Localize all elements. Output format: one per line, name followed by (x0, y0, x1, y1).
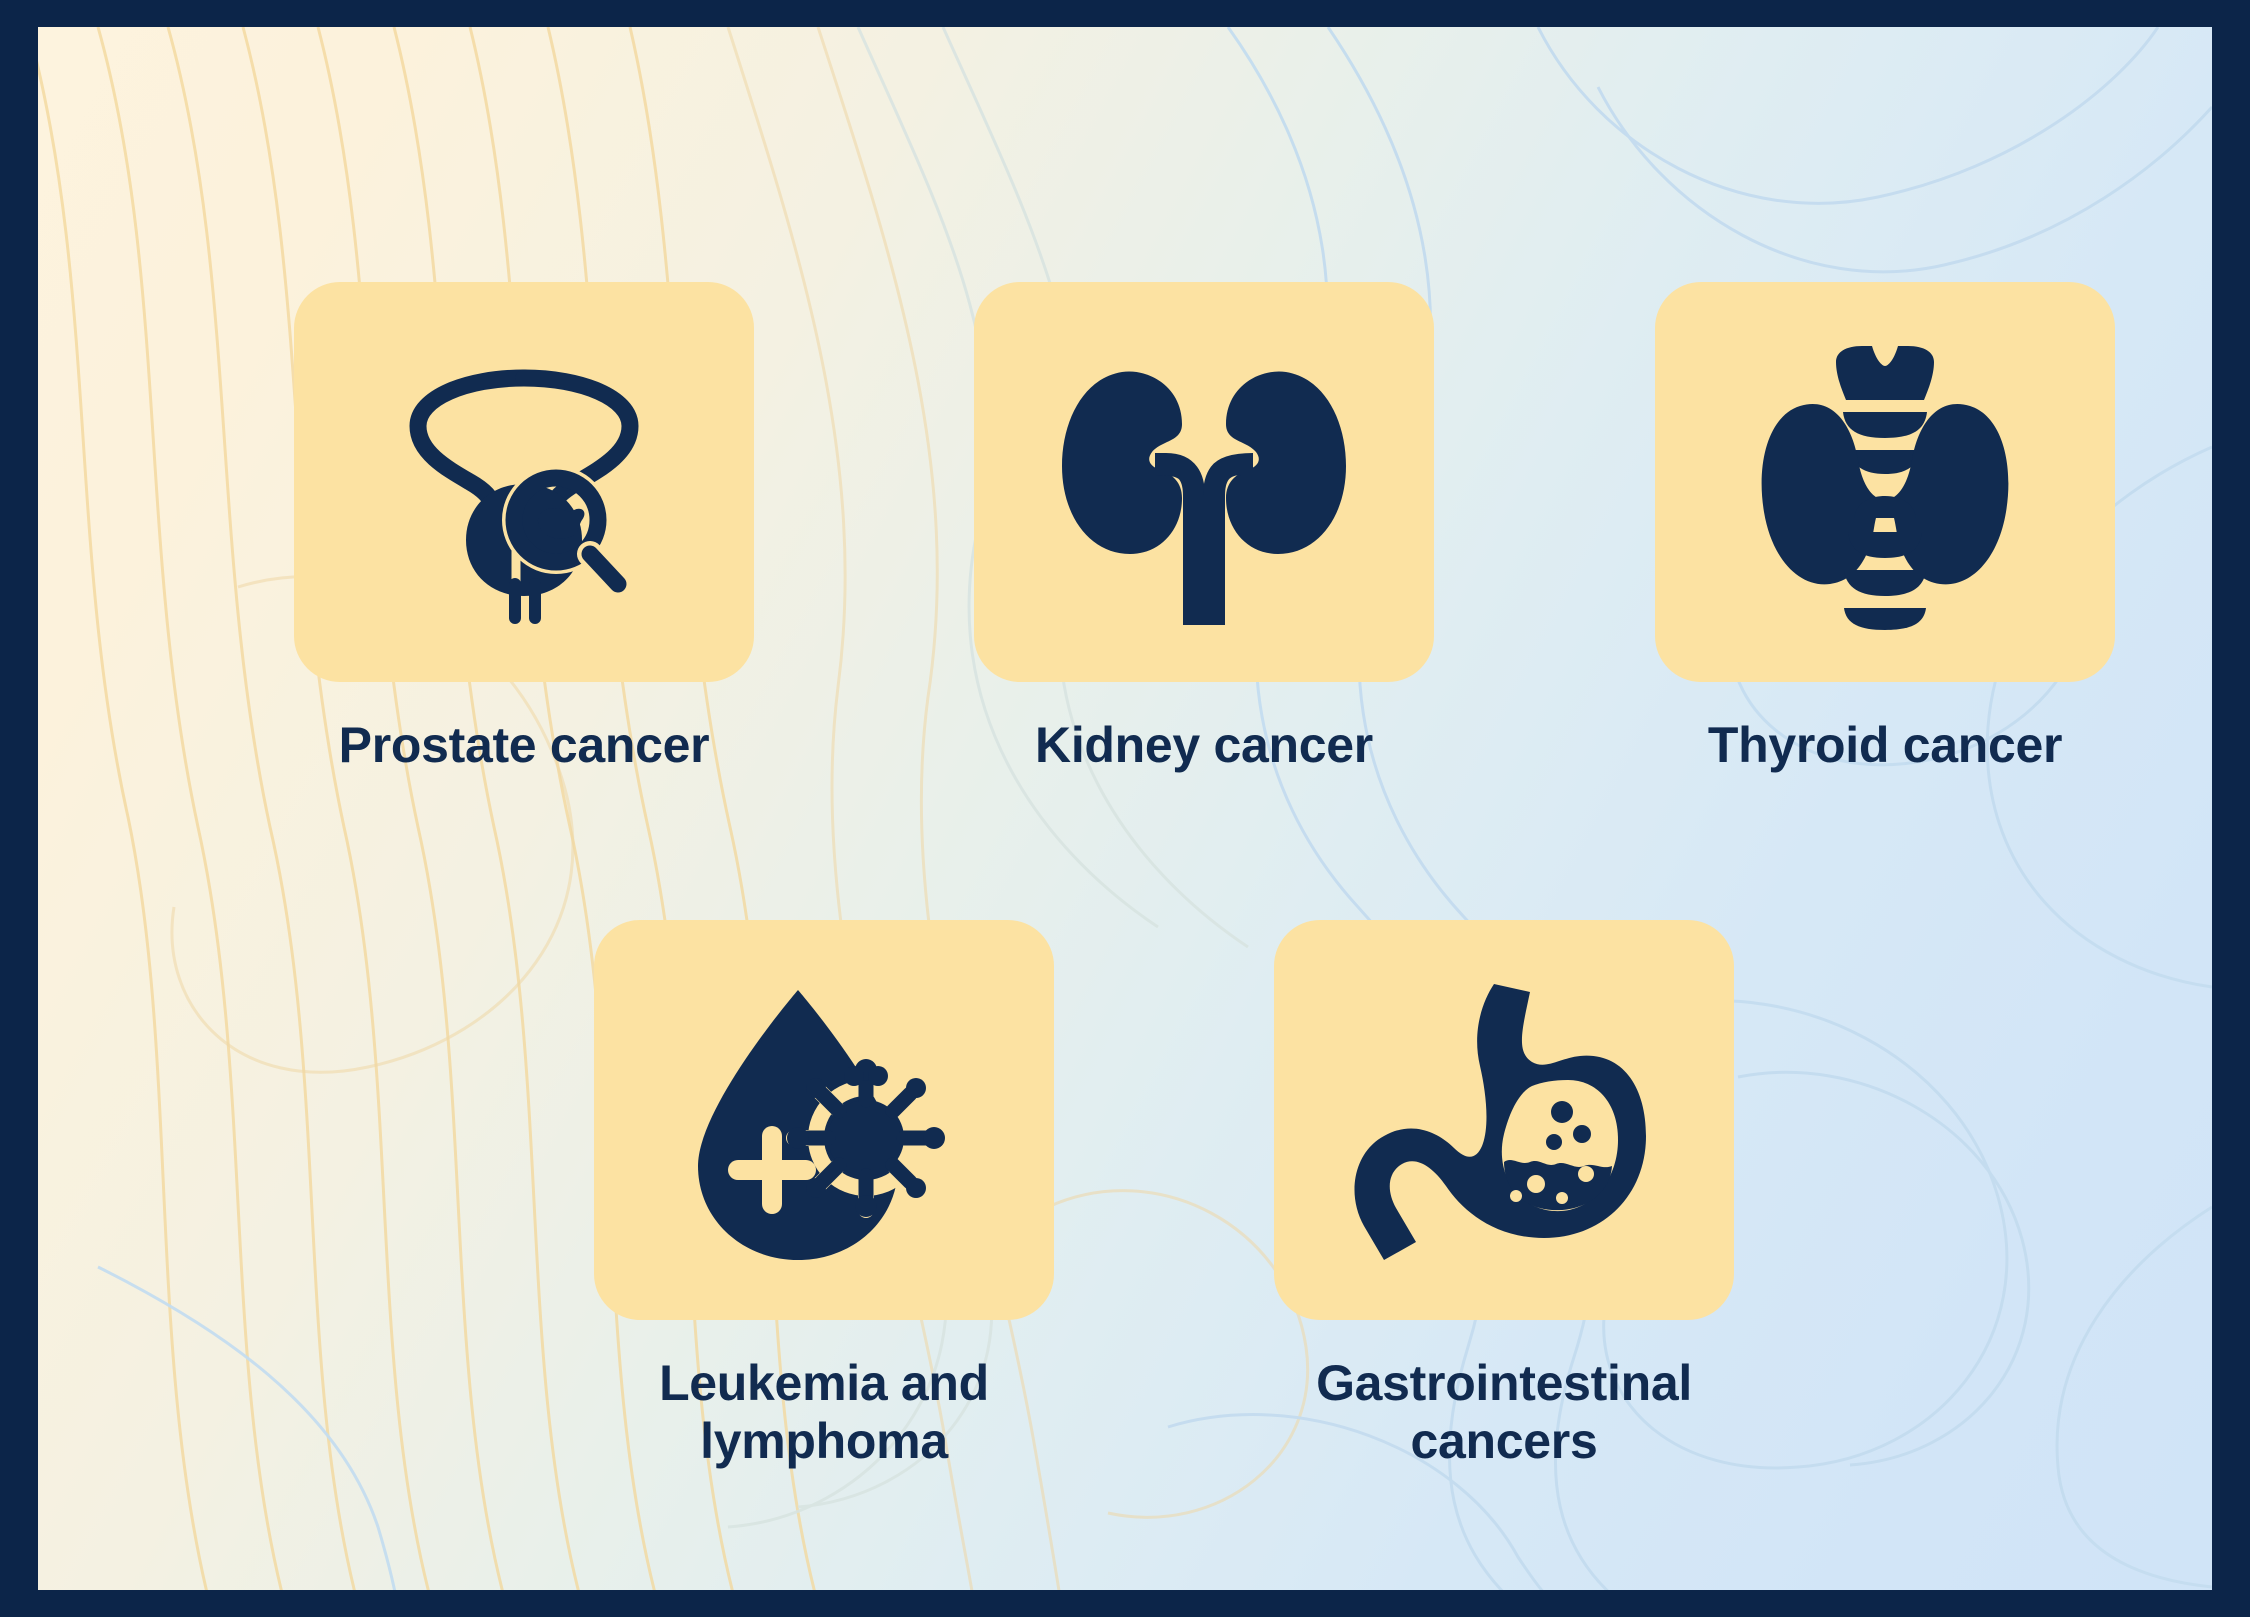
card-label-thyroid: Thyroid cancer (1585, 716, 2185, 774)
card-prostate-cancer[interactable]: Prostate cancer (224, 282, 824, 774)
cards-grid: Prostate cancer Kidney cancer (38, 27, 2212, 1590)
stomach-icon (1354, 970, 1654, 1270)
card-label-leukemia: Leukemia andlymphoma (564, 1354, 1084, 1470)
blood-drop-virus-icon (674, 970, 974, 1270)
prostate-magnifier-icon (374, 332, 674, 632)
label-line-2: lymphoma (700, 1413, 948, 1469)
icon-tile-leukemia (594, 920, 1054, 1320)
label-line-2: cancers (1411, 1413, 1598, 1469)
card-leukemia-lymphoma[interactable]: Leukemia andlymphoma (564, 920, 1084, 1470)
label-line-1: Gastrointestinal (1316, 1355, 1692, 1411)
icon-tile-thyroid (1655, 282, 2115, 682)
label-line-1: Leukemia and (659, 1355, 989, 1411)
card-label-prostate: Prostate cancer (224, 716, 824, 774)
card-thyroid-cancer[interactable]: Thyroid cancer (1585, 282, 2185, 774)
poster-canvas: Prostate cancer Kidney cancer (38, 27, 2212, 1590)
card-label-kidney: Kidney cancer (904, 716, 1504, 774)
thyroid-gland-icon (1740, 332, 2030, 632)
card-kidney-cancer[interactable]: Kidney cancer (904, 282, 1504, 774)
icon-tile-prostate (294, 282, 754, 682)
kidneys-icon (1054, 332, 1354, 632)
card-label-gi: Gastrointestinalcancers (1244, 1354, 1764, 1470)
icon-tile-kidney (974, 282, 1434, 682)
icon-tile-gi (1274, 920, 1734, 1320)
card-gastrointestinal-cancers[interactable]: Gastrointestinalcancers (1244, 920, 1764, 1470)
